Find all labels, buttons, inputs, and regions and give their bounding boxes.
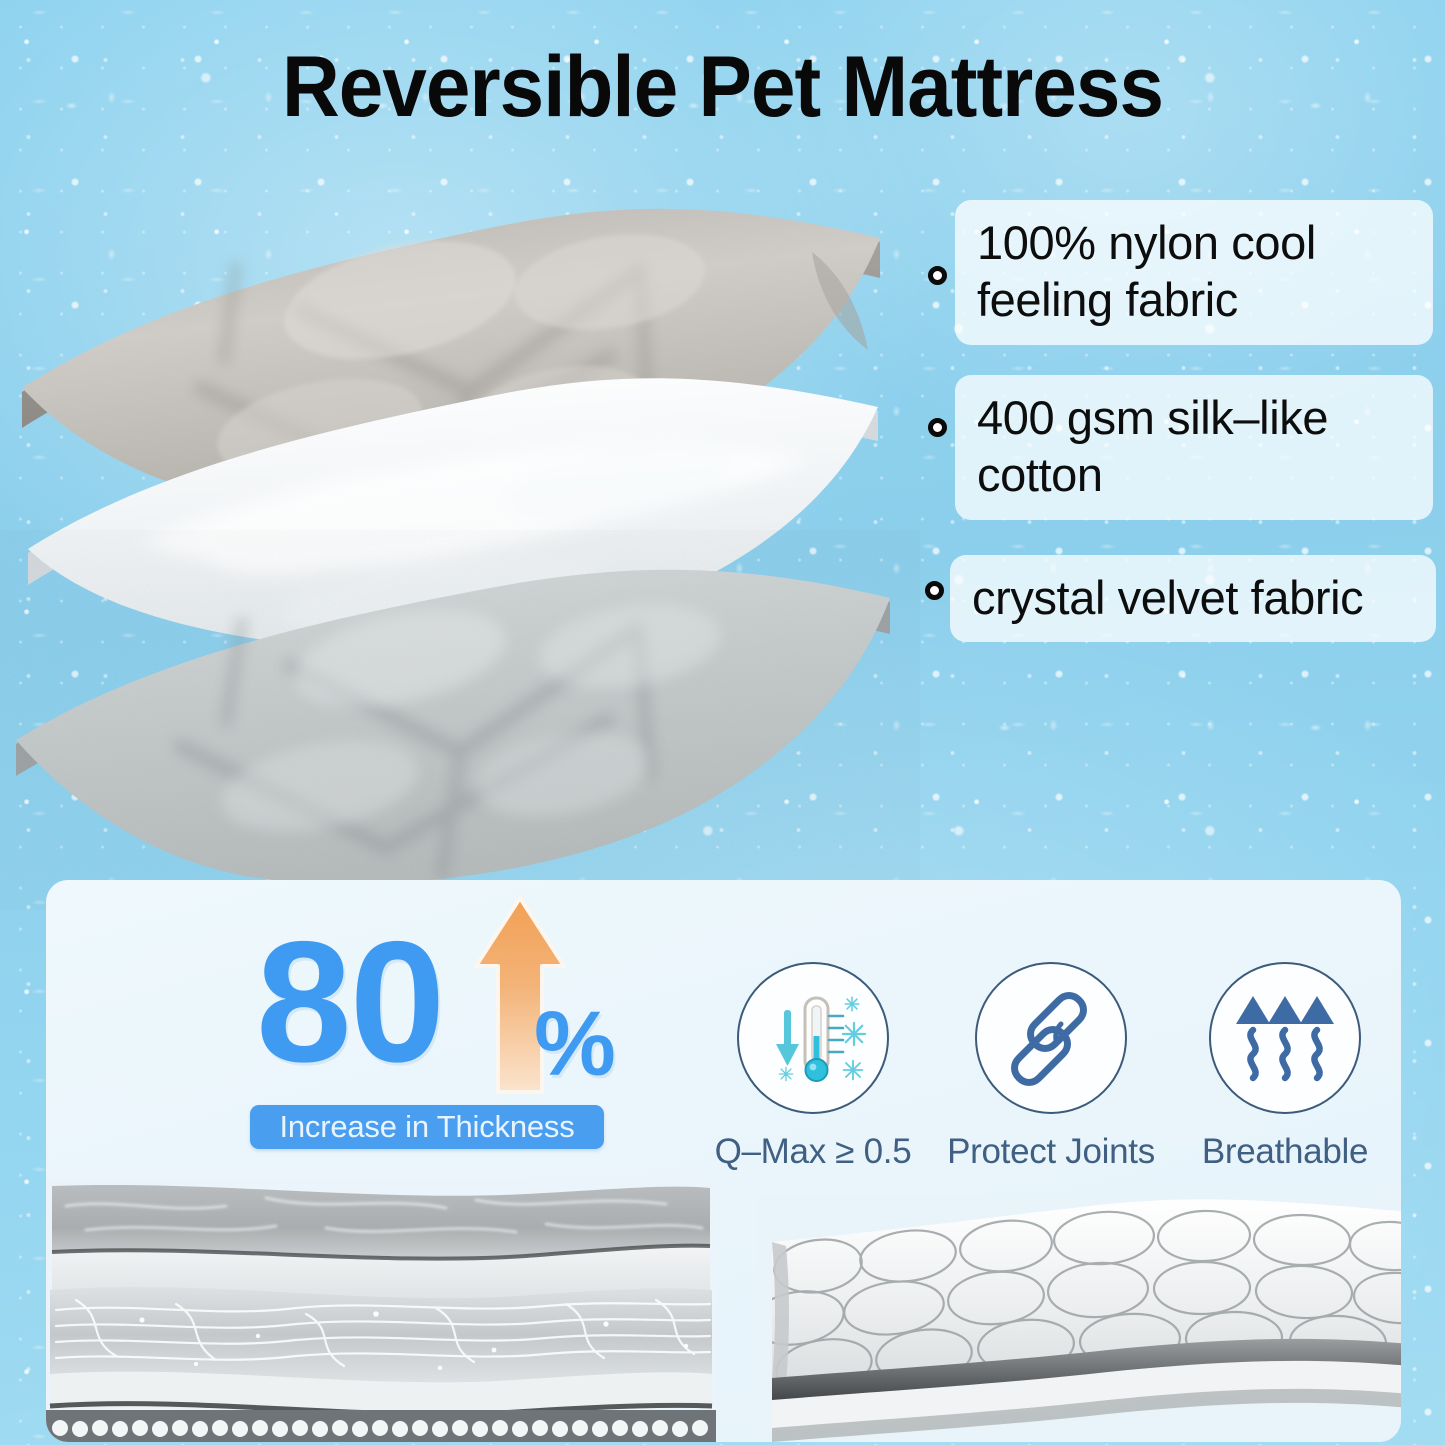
- mattress-cross-section-photo: [46, 1178, 716, 1442]
- callout-bullet-2-ring-icon: [928, 418, 947, 437]
- feature-qmax-label: Q–Max ≥ 0.5: [708, 1132, 918, 1172]
- callout-2: 400 gsm silk–like cotton: [955, 375, 1433, 520]
- product-infographic: Reversible Pet Mattress: [0, 0, 1445, 1445]
- callout-bullet-1-ring-icon: [928, 266, 947, 285]
- feature-joints-label: Protect Joints: [946, 1132, 1156, 1172]
- percent-sign: %: [534, 998, 616, 1090]
- crystal-velvet-bottom-layer: [0, 530, 920, 910]
- callout-3: crystal velvet fabric: [950, 555, 1436, 642]
- feature-breathable-label: Breathable: [1180, 1132, 1390, 1172]
- thickness-value: 80: [256, 916, 443, 1088]
- bone-joint-icon: [995, 982, 1107, 1094]
- quilted-mattress-edge-photo: [758, 1194, 1401, 1442]
- features-panel: 80 % Increase in Thickness: [46, 880, 1401, 1442]
- callout-bullet-3-ring-icon: [925, 581, 944, 600]
- feature-joints: Protect Joints: [946, 962, 1156, 1172]
- thickness-badge: Increase in Thickness: [250, 1105, 604, 1149]
- page-title: Reversible Pet Mattress: [51, 38, 1395, 137]
- callout-1: 100% nylon cool feeling fabric: [955, 200, 1433, 345]
- layers-diagram: [0, 160, 940, 860]
- feature-qmax-circle: [737, 962, 889, 1114]
- airflow-arrows-icon: [1229, 982, 1341, 1094]
- feature-breathable: Breathable: [1180, 962, 1390, 1172]
- feature-joints-circle: [975, 962, 1127, 1114]
- thickness-increase-block: 80 % Increase in Thickness: [246, 902, 646, 1122]
- feature-qmax: Q–Max ≥ 0.5: [708, 962, 918, 1172]
- feature-breathable-circle: [1209, 962, 1361, 1114]
- thermometer-snowflake-icon: [757, 982, 869, 1094]
